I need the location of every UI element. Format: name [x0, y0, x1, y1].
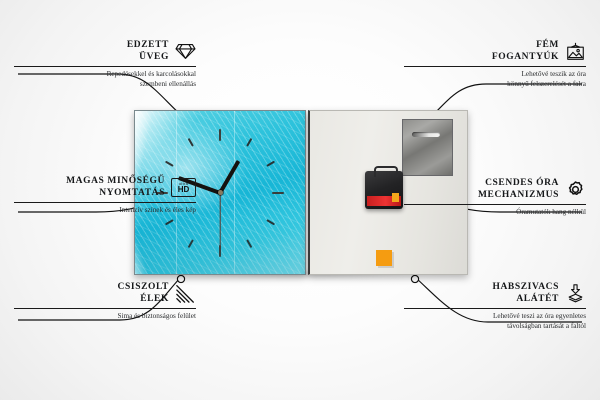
- callout-print-quality: ultra HD MAGAS MINŐSÉGŰ NYOMTATÁS Intenz…: [14, 176, 196, 216]
- ultra-hd-badge-icon: ultra HD: [171, 178, 196, 197]
- callout-desc-line1: Lehetővé teszik az óra: [404, 70, 586, 80]
- mechanism-bail: [374, 166, 398, 177]
- callout-desc-line1: Óramutatók hang nélkül: [404, 208, 586, 218]
- callout-desc-line1: Intenzív színek és éles kép: [14, 206, 196, 216]
- clock-hour-hand: [218, 159, 240, 193]
- callout-rule: [404, 308, 586, 309]
- callout-rule: [404, 66, 586, 67]
- callout-desc-line1: Repedésekkel és karcolásokkal: [14, 70, 196, 80]
- callout-metal-handles: FÉM FOGANTYÚK Lehetővé teszik az óra kön…: [404, 40, 586, 89]
- callout-title-line2: FOGANTYÚK: [492, 52, 559, 64]
- callout-title-line2: ÉLEK: [118, 294, 169, 306]
- hanger-slot: [412, 132, 440, 137]
- callout-title-line1: CSENDES ÓRA: [478, 178, 559, 190]
- callout-title-line1: HABSZIVACS: [492, 282, 559, 294]
- callout-desc-line1: Lehetővé teszi az óra egyenletes: [404, 312, 586, 322]
- callout-title-line2: NYOMTATÁS: [66, 188, 165, 200]
- quartz-mechanism-box: [365, 171, 403, 209]
- callout-desc-line2: távolságban tartását a faltól: [404, 322, 586, 332]
- gear-icon: [565, 180, 586, 199]
- callout-desc-line1: Sima és biztonságos felület: [14, 312, 196, 322]
- clock-second-hand: [219, 193, 220, 249]
- callout-title-line1: FÉM: [492, 40, 559, 52]
- badge-hd-text: HD: [178, 186, 190, 194]
- callout-rule: [14, 202, 196, 203]
- clock-center-hub: [218, 190, 223, 195]
- infographic-stage: EDZETT ÜVEG Repedésekkel és karcolásokka…: [0, 0, 600, 400]
- foam-spacer-pad: [376, 250, 392, 266]
- press-down-layers-icon: [565, 284, 586, 303]
- mechanism-label: [367, 196, 401, 206]
- metal-hanger-plate: [402, 119, 453, 176]
- beveled-edge-icon: [175, 284, 196, 303]
- callout-rule: [404, 204, 586, 205]
- callout-title-line1: EDZETT: [127, 40, 169, 52]
- callout-rule: [14, 66, 196, 67]
- callout-title-line2: ÜVEG: [127, 52, 169, 64]
- callout-title-line2: ALÁTÉT: [492, 294, 559, 306]
- picture-frame-hanger-icon: [565, 42, 586, 61]
- callout-title-line1: CSISZOLT: [118, 282, 169, 294]
- callout-foam-pad: HABSZIVACS ALÁTÉT Lehetővé teszi az óra …: [404, 282, 586, 331]
- callout-title-line2: MECHANIZMUS: [478, 190, 559, 202]
- callout-polished-edges: CSISZOLT ÉLEK Sima és biztonságos felüle…: [14, 282, 196, 322]
- callout-tempered-glass: EDZETT ÜVEG Repedésekkel és karcolásokka…: [14, 40, 196, 89]
- callout-desc-line2: könnyű felszerelését a falra: [404, 80, 586, 90]
- callout-title-line1: MAGAS MINŐSÉGŰ: [66, 176, 165, 188]
- callout-silent-mechanism: CSENDES ÓRA MECHANIZMUS Óramutatók hang …: [404, 178, 586, 218]
- diamond-icon: [175, 42, 196, 61]
- callout-desc-line2: szembeni ellenállás: [14, 80, 196, 90]
- callout-rule: [14, 308, 196, 309]
